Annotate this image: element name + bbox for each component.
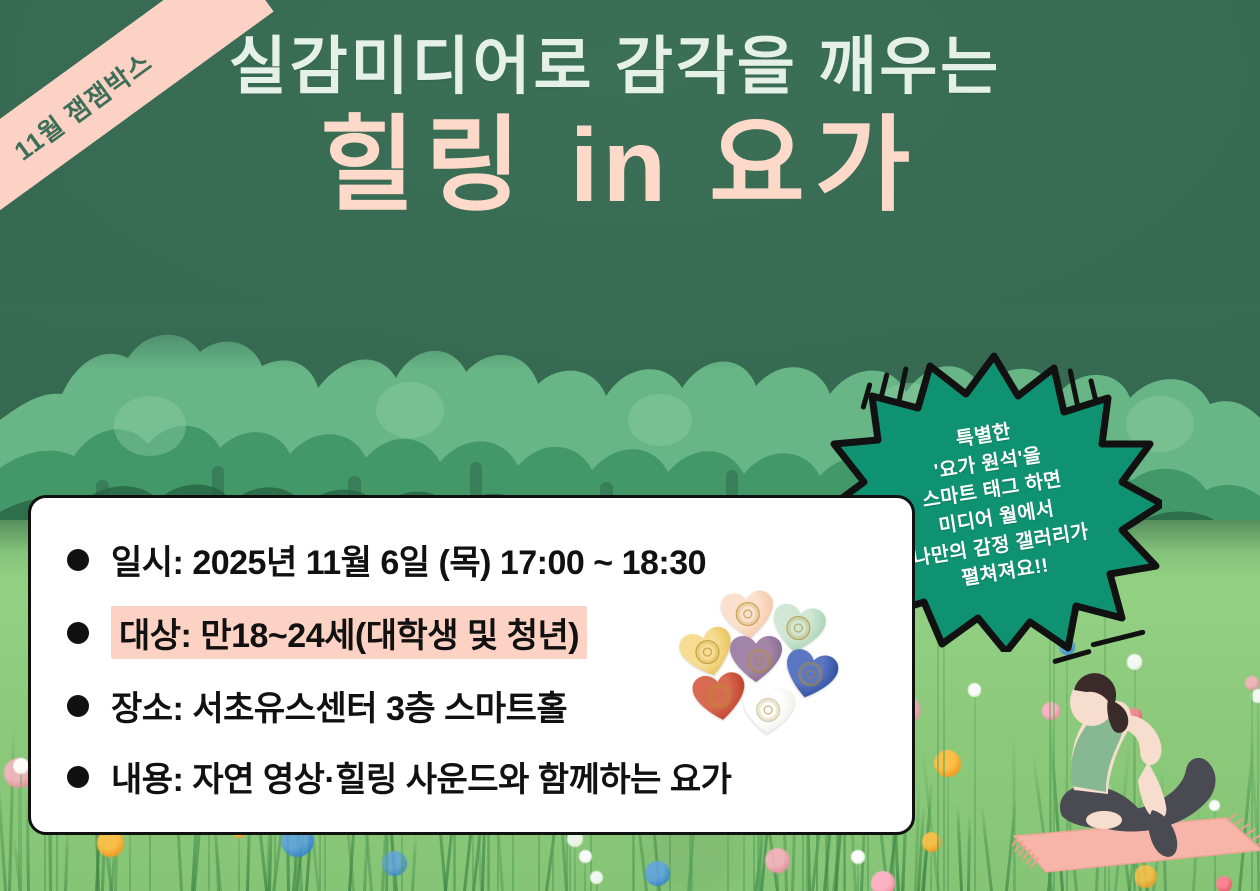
corner-ribbon: 11월 잼잼박스 [0,0,330,300]
corner-ribbon-label: 11월 잼잼박스 [5,42,158,167]
stone-glyph-icon [784,614,812,642]
flower [590,871,603,884]
bullet-icon [67,766,89,788]
info-row-text: 장소: 서초유스센터 3층 스마트홀 [111,681,567,730]
flower-stem [947,764,949,891]
info-row: 내용: 자연 영상·힐링 사운드와 함께하는 요가 [61,752,888,801]
chakra-stones-illustration [676,592,844,742]
info-row-text: 일시: 2025년 11월 6일 (목) 17:00 ~ 18:30 [111,535,706,584]
flower-stem [238,830,240,891]
info-row-text: 내용: 자연 영상·힐링 사운드와 함께하는 요가 [111,752,731,801]
poster-canvas: 11월 잼잼박스 실감미디어로 감각을 깨우는 힐링 in 요가 특별한 '요가… [0,0,1260,891]
flower-stem [574,839,576,891]
info-row-text: 대상: 만18~24세(대학생 및 청년) [111,606,587,659]
stone-glyph-icon [735,601,761,627]
bullet-icon [67,695,89,717]
flower-stem [20,766,22,891]
flower [13,758,29,774]
flower [871,871,896,891]
bullet-icon [67,622,89,644]
bullet-icon [67,549,89,571]
flower [968,683,981,696]
info-row: 일시: 2025년 11월 6일 (목) 17:00 ~ 18:30 [61,535,888,584]
chakra-stone-red [691,671,749,726]
stone-glyph-icon [706,683,733,710]
yoga-figure-illustration [1012,640,1260,891]
chakra-stone-white [740,686,795,738]
stone-glyph-icon [693,637,723,667]
flower [765,848,791,874]
flower [382,851,407,876]
flower [851,850,865,864]
stone-glyph-icon [747,649,771,673]
flower-stem [974,690,976,891]
flower [645,861,670,886]
stone-glyph-icon [755,697,781,723]
stone-glyph-icon [796,660,825,689]
corner-ribbon-band: 11월 잼잼박스 [0,0,274,258]
